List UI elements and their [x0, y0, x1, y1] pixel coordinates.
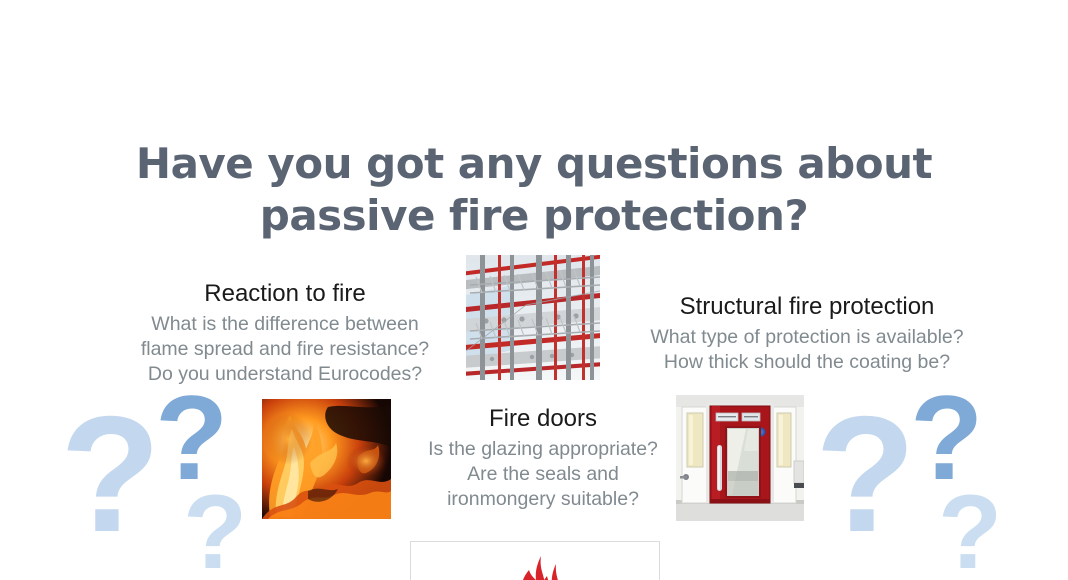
topic-question-line: Do you understand Eurocodes?: [110, 362, 460, 387]
page-title-line-1: Have you got any questions about: [0, 138, 1068, 190]
topic-block-fire-doors: Fire doors Is the glazing appropriate? A…: [402, 404, 684, 512]
logo-card: [410, 541, 660, 580]
steel-frame-photo: [466, 255, 600, 380]
topic-questions-structural-fire-protection: What type of protection is available? Ho…: [622, 325, 992, 375]
fire-door-photo: [676, 395, 804, 521]
topic-block-reaction-to-fire: Reaction to fire What is the difference …: [110, 279, 460, 387]
topic-question-line: How thick should the coating be?: [622, 350, 992, 375]
page-title-line-2: passive fire protection?: [0, 190, 1068, 242]
question-mark-right-small: ?: [938, 480, 1002, 580]
topic-question-line: What is the difference between: [110, 312, 460, 337]
fire-door-illustration: [676, 395, 804, 521]
topic-question-line: Is the glazing appropriate?: [402, 437, 684, 462]
page-title: Have you got any questions about passive…: [0, 138, 1068, 242]
flame-photo: [262, 399, 391, 519]
poster-canvas: Have you got any questions about passive…: [0, 0, 1068, 580]
topic-title-fire-doors: Fire doors: [402, 404, 684, 434]
topic-questions-fire-doors: Is the glazing appropriate? Are the seal…: [402, 437, 684, 512]
flame-illustration: [262, 399, 391, 519]
flame-logo-glyph: [507, 556, 563, 580]
question-mark-right-large: ?: [815, 392, 916, 557]
flame-logo-icon: [507, 556, 563, 580]
topic-questions-reaction-to-fire: What is the difference between flame spr…: [110, 312, 460, 387]
topic-block-structural-fire-protection: Structural fire protection What type of …: [622, 292, 992, 375]
topic-question-line: What type of protection is available?: [622, 325, 992, 350]
question-mark-left-large: ?: [60, 392, 161, 557]
question-mark-left-small: ?: [183, 480, 247, 580]
steel-frame-illustration: [466, 255, 600, 380]
topic-title-structural-fire-protection: Structural fire protection: [622, 292, 992, 322]
topic-title-reaction-to-fire: Reaction to fire: [110, 279, 460, 309]
topic-question-line: flame spread and fire resistance?: [110, 337, 460, 362]
topic-question-line: ironmongery suitable?: [402, 487, 684, 512]
topic-question-line: Are the seals and: [402, 462, 684, 487]
